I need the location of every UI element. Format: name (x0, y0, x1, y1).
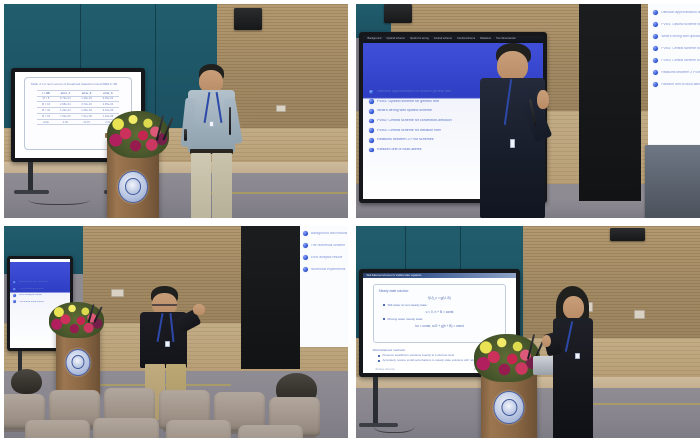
wall-outlet (276, 105, 286, 112)
bullet-icon (653, 34, 658, 39)
list-item: What's wrong with upwind scheme (653, 34, 700, 39)
presenter-torso (553, 318, 593, 438)
table-cell: order (37, 119, 54, 125)
audience-chair (93, 418, 158, 438)
bullet-label: Error analysis results (19, 294, 41, 297)
ceiling-speaker-icon (234, 8, 262, 29)
presentation-clicker-icon (184, 129, 186, 141)
list-item: Error analysis results (13, 294, 65, 297)
bullet-label: Random drift of Multi-alleles (377, 148, 422, 152)
nav-item: Background (367, 38, 381, 41)
nav-item: Two dimensional (496, 38, 515, 41)
bullet-label: The numerical scheme (311, 244, 345, 248)
bullet-icon (653, 58, 658, 63)
equation-label: Steady state solution: (379, 289, 501, 293)
equation: u = 0, h + B = const (379, 310, 501, 314)
list-item: FVM3: Central scheme for diffusion form (653, 58, 700, 63)
presenter-hand (542, 335, 551, 347)
side-screen-bullets: Diffusion approximation of random geneti… (653, 10, 700, 87)
table-row: order 4.06 10.97 2.01 (37, 119, 118, 125)
audience-member (11, 369, 42, 395)
floor-cable (28, 192, 90, 205)
bullet-icon (369, 138, 374, 143)
presenter-badge (209, 121, 214, 127)
list-item: FVM1: Upwind scheme for genetic drift (653, 22, 700, 27)
presenter-head (563, 296, 584, 319)
bullet-icon (369, 128, 374, 133)
floor-cable (373, 416, 415, 433)
bullet-label: FVM3: Central scheme for diffusion form (377, 129, 441, 133)
secondary-projection-screen: Diffusion approximation of random geneti… (648, 4, 700, 150)
bullet-icon (653, 22, 658, 27)
equation: hu = const, u²/2 + g(h + B) = const (379, 324, 501, 328)
list-item: FVM2: Central scheme for convection-diff… (653, 46, 700, 51)
list-item: The numerical scheme (303, 243, 347, 248)
bullet-label: Diffusion approximation of random geneti… (377, 90, 451, 94)
presenter-hand (537, 90, 549, 109)
square-bullet-icon (378, 355, 380, 357)
audience-chair (166, 420, 231, 438)
presenter-hand (193, 304, 204, 315)
nav-item: Central scheme (457, 38, 475, 41)
bullet-icon (13, 281, 16, 284)
bullet-icon (303, 255, 308, 260)
bullet-label: FVM1: Upwind scheme for genetic drift (661, 23, 700, 27)
dark-wall-panel (241, 226, 299, 369)
table-cell: 4.06 (55, 119, 76, 125)
collage-panel-top-right[interactable]: Diffusion approximation of random geneti… (356, 4, 700, 218)
list-item: Diffusion approximation of random geneti… (653, 10, 700, 15)
list-item-label: Preserve equilibrium solutions exactly a… (382, 354, 454, 358)
presenter-badge (575, 353, 580, 359)
bullet-label: Error analysis results (311, 256, 343, 260)
bullet-icon (653, 46, 658, 51)
presenter-leg (191, 153, 211, 218)
flower-arrangement (107, 111, 169, 158)
audience-chair (238, 425, 303, 438)
bullet-label: Background and motivation (311, 232, 347, 236)
slide-bullet-list: Background and motivation The numerical … (13, 281, 65, 307)
list-item: Random drift of Multi-alleles (653, 82, 700, 87)
slide-header-bar: Well-balanced schemes for shallow water … (363, 273, 515, 278)
bullet-label: FVM1: Upwind scheme for genetic drift (377, 100, 439, 104)
wall-seam (155, 4, 156, 128)
handheld-microphone-icon (229, 107, 231, 135)
collage-panel-bottom-right[interactable]: Well-balanced schemes for shallow water … (356, 226, 700, 438)
bullet-icon (13, 300, 16, 303)
podium-emblem-icon (494, 391, 525, 424)
slide-table-grid: r = 2/h error_1 error_2 error_3 M = 8 5.… (37, 90, 118, 126)
slide-header-title: Well-balanced schemes for shallow water … (366, 274, 421, 277)
bullet-icon (653, 82, 658, 87)
presenter (176, 64, 252, 218)
bullet-label: Relations between 3 FVM schemes (377, 138, 434, 142)
sub-item-label: Moving water steady state: (387, 317, 423, 321)
slide-equation-card: Steady state solution: f(U)_x = g(U, B) … (373, 284, 507, 343)
bullet-icon (369, 119, 374, 124)
bullet-icon (653, 10, 658, 15)
nav-item: Upwind scheme (386, 38, 404, 41)
nav-item: Relations (480, 38, 491, 41)
list-item: Error analysis results (303, 255, 347, 260)
bullet-icon (13, 288, 16, 291)
bullet-icon (13, 294, 16, 297)
side-screen-bullets: Background and motivation The numerical … (303, 231, 347, 272)
eyeglasses-icon (152, 304, 176, 307)
bullet-icon (369, 99, 374, 104)
bullet-icon (303, 267, 308, 272)
bullet-label: FVM2: Central scheme for convection-diff… (661, 47, 700, 51)
photo-collage: Table 4: L2 norm errors of linearized Ga… (0, 0, 700, 438)
sub-item: Moving water steady state: (383, 317, 501, 321)
table-cell: 10.97 (76, 119, 97, 125)
sub-item: Still water at rest steady state: (383, 303, 501, 307)
square-bullet-icon (378, 360, 380, 362)
bullet-icon (303, 231, 308, 236)
bullet-icon (369, 109, 374, 114)
bullet-icon (303, 243, 308, 248)
display-stand-leg (28, 162, 33, 192)
nav-item: Upwind is wrong (410, 38, 429, 41)
bullet-label: Relations between 3 FVM schemes (661, 71, 700, 75)
equation: f(U)_x = g(U, B) (379, 296, 501, 300)
podium-emblem-icon (65, 349, 90, 376)
side-podium (645, 145, 700, 218)
bullet-label: Random drift of Multi-alleles (661, 83, 700, 87)
bullet-label: The numerical scheme (19, 288, 43, 291)
podium-emblem-icon (118, 171, 148, 203)
bullet-label: FVM3: Central scheme for diffusion form (661, 59, 700, 63)
list-item: Relations between 3 FVM schemes (653, 70, 700, 75)
square-bullet-icon (383, 304, 385, 306)
wall-outlet (111, 289, 125, 298)
bullet-label: What's wrong with upwind scheme (661, 35, 700, 39)
presenter (471, 43, 561, 218)
presenter-badge (510, 139, 515, 148)
list-item: Numerical experiments (13, 300, 65, 303)
list-item: Background and motivation (303, 231, 347, 236)
bullet-label: FVM2: Central scheme for convection-diff… (377, 119, 452, 123)
bullet-label: Numerical experiments (19, 301, 43, 304)
bullet-label: What's wrong with upwind scheme (377, 109, 432, 113)
bullet-icon (369, 90, 374, 95)
presenter-leg (212, 153, 232, 218)
slide-table-caption: Table 4: L2 norm errors of linearized Ga… (31, 83, 126, 86)
bullet-icon (653, 70, 658, 75)
secondary-projection-screen: Background and motivation The numerical … (300, 226, 348, 347)
bullet-label: Diffusion approximation of random geneti… (661, 11, 700, 15)
bullet-label: Background and motivation (19, 281, 48, 284)
collage-panel-bottom-left[interactable]: Background and motivation The numerical … (4, 226, 348, 438)
list-item: Background and motivation (13, 281, 65, 284)
presenter-head (497, 51, 528, 81)
audience-chair (25, 420, 90, 438)
presenter-badge (165, 341, 170, 347)
ceiling-speaker-icon (384, 4, 412, 23)
collage-panel-top-left[interactable]: Table 4: L2 norm errors of linearized Ga… (4, 4, 348, 218)
ceiling-speaker-icon (610, 228, 645, 241)
square-bullet-icon (383, 318, 385, 320)
list-item: Numerical experiments (303, 267, 347, 272)
list-item: The numerical scheme (13, 288, 65, 291)
presenter (540, 286, 610, 438)
dark-wall-panel (579, 4, 642, 201)
footer-left: Beihang University (376, 369, 395, 371)
bullet-label: Numerical experiments (311, 268, 346, 272)
nav-item: Central scheme (434, 38, 452, 41)
wall-outlet (634, 310, 644, 319)
sub-item-label: Still water at rest steady state: (387, 303, 427, 307)
bullet-icon (369, 148, 374, 153)
